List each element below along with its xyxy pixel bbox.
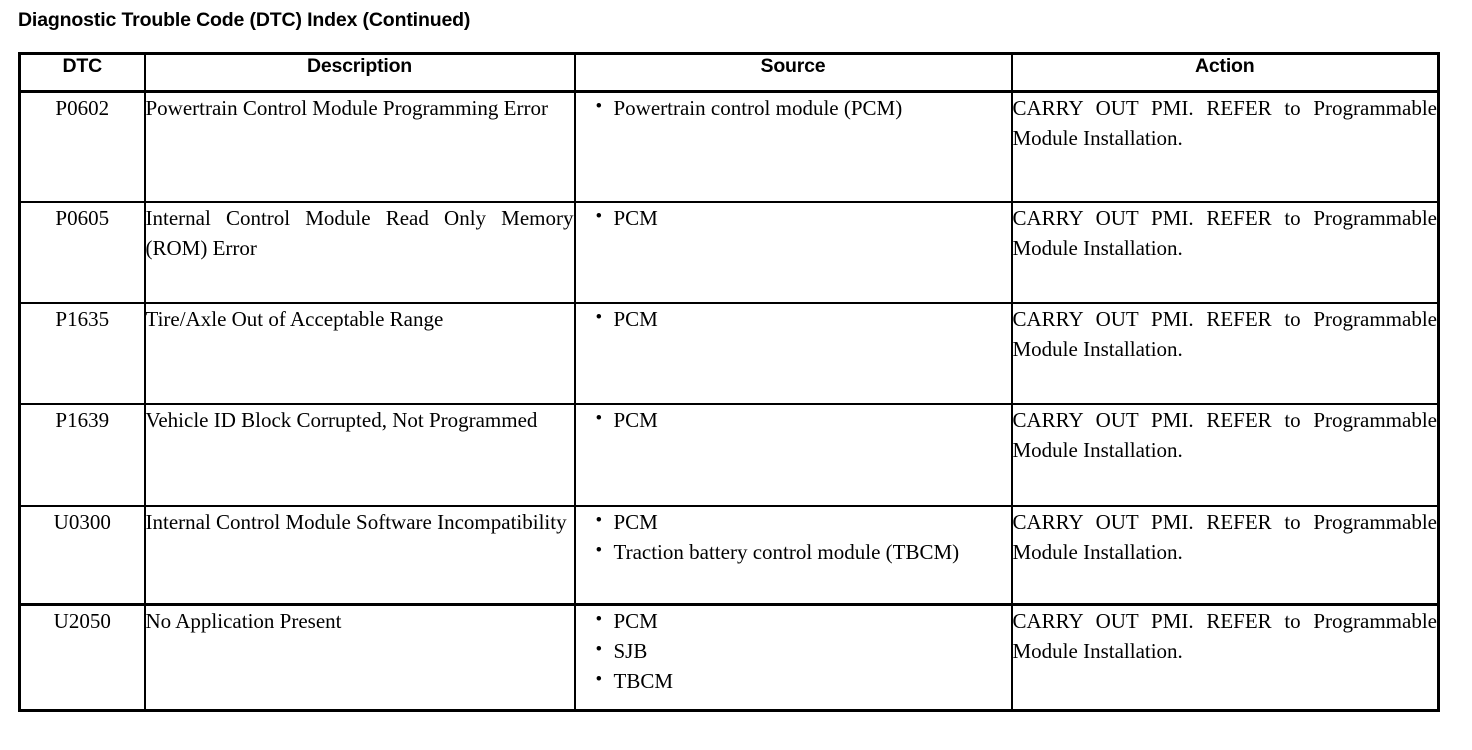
cell-description: Powertrain Control Module Programming Er… [145, 92, 575, 203]
source-list: PCM [576, 304, 1011, 334]
table-row: P1639 Vehicle ID Block Corrupted, Not Pr… [20, 404, 1439, 506]
cell-description: Internal Control Module Read Only Memory… [145, 202, 575, 303]
list-item: PCM [596, 405, 1011, 435]
list-item: PCM [596, 203, 1011, 233]
cell-dtc: P1635 [20, 303, 145, 404]
list-item: Traction battery control module (TBCM) [596, 537, 1011, 567]
cell-action: CARRY OUT PMI. REFER to Programmable Mod… [1012, 92, 1439, 203]
dtc-index-table: DTC Description Source Action P0602 Powe… [18, 52, 1440, 712]
cell-source: PCM [575, 202, 1012, 303]
table-header: DTC Description Source Action [20, 54, 1439, 92]
cell-dtc: U2050 [20, 605, 145, 711]
column-header-dtc: DTC [20, 54, 145, 92]
list-item: PCM [596, 304, 1011, 334]
list-item: Powertrain control module (PCM) [596, 93, 1011, 123]
source-list: PCM Traction battery control module (TBC… [576, 507, 1011, 567]
list-item: PCM [596, 507, 1011, 537]
table-row: P1635 Tire/Axle Out of Acceptable Range … [20, 303, 1439, 404]
cell-dtc: P0605 [20, 202, 145, 303]
cell-dtc: P1639 [20, 404, 145, 506]
table-row: U2050 No Application Present PCM SJB TBC… [20, 605, 1439, 711]
cell-action: CARRY OUT PMI. REFER to Programmable Mod… [1012, 202, 1439, 303]
table-row: U0300 Internal Control Module Software I… [20, 506, 1439, 605]
table-body: P0602 Powertrain Control Module Programm… [20, 92, 1439, 711]
list-item: PCM [596, 606, 1011, 636]
list-item: TBCM [596, 666, 1011, 696]
cell-source: PCM SJB TBCM [575, 605, 1012, 711]
table-row: P0602 Powertrain Control Module Programm… [20, 92, 1439, 203]
table-row: P0605 Internal Control Module Read Only … [20, 202, 1439, 303]
cell-dtc: P0602 [20, 92, 145, 203]
cell-action: CARRY OUT PMI. REFER to Programmable Mod… [1012, 404, 1439, 506]
document-page: Diagnostic Trouble Code (DTC) Index (Con… [0, 0, 1472, 750]
cell-source: PCM [575, 303, 1012, 404]
cell-action: CARRY OUT PMI. REFER to Programmable Mod… [1012, 605, 1439, 711]
source-list: PCM SJB TBCM [576, 606, 1011, 696]
column-header-description: Description [145, 54, 575, 92]
cell-description: Tire/Axle Out of Acceptable Range [145, 303, 575, 404]
column-header-source: Source [575, 54, 1012, 92]
cell-source: PCM [575, 404, 1012, 506]
cell-description: Vehicle ID Block Corrupted, Not Programm… [145, 404, 575, 506]
column-header-action: Action [1012, 54, 1439, 92]
page-title: Diagnostic Trouble Code (DTC) Index (Con… [18, 8, 470, 32]
cell-action: CARRY OUT PMI. REFER to Programmable Mod… [1012, 506, 1439, 605]
cell-description: Internal Control Module Software Incompa… [145, 506, 575, 605]
table-header-row: DTC Description Source Action [20, 54, 1439, 92]
cell-dtc: U0300 [20, 506, 145, 605]
cell-action: CARRY OUT PMI. REFER to Programmable Mod… [1012, 303, 1439, 404]
source-list: Powertrain control module (PCM) [576, 93, 1011, 123]
cell-description: No Application Present [145, 605, 575, 711]
source-list: PCM [576, 203, 1011, 233]
source-list: PCM [576, 405, 1011, 435]
cell-source: PCM Traction battery control module (TBC… [575, 506, 1012, 605]
list-item: SJB [596, 636, 1011, 666]
cell-source: Powertrain control module (PCM) [575, 92, 1012, 203]
